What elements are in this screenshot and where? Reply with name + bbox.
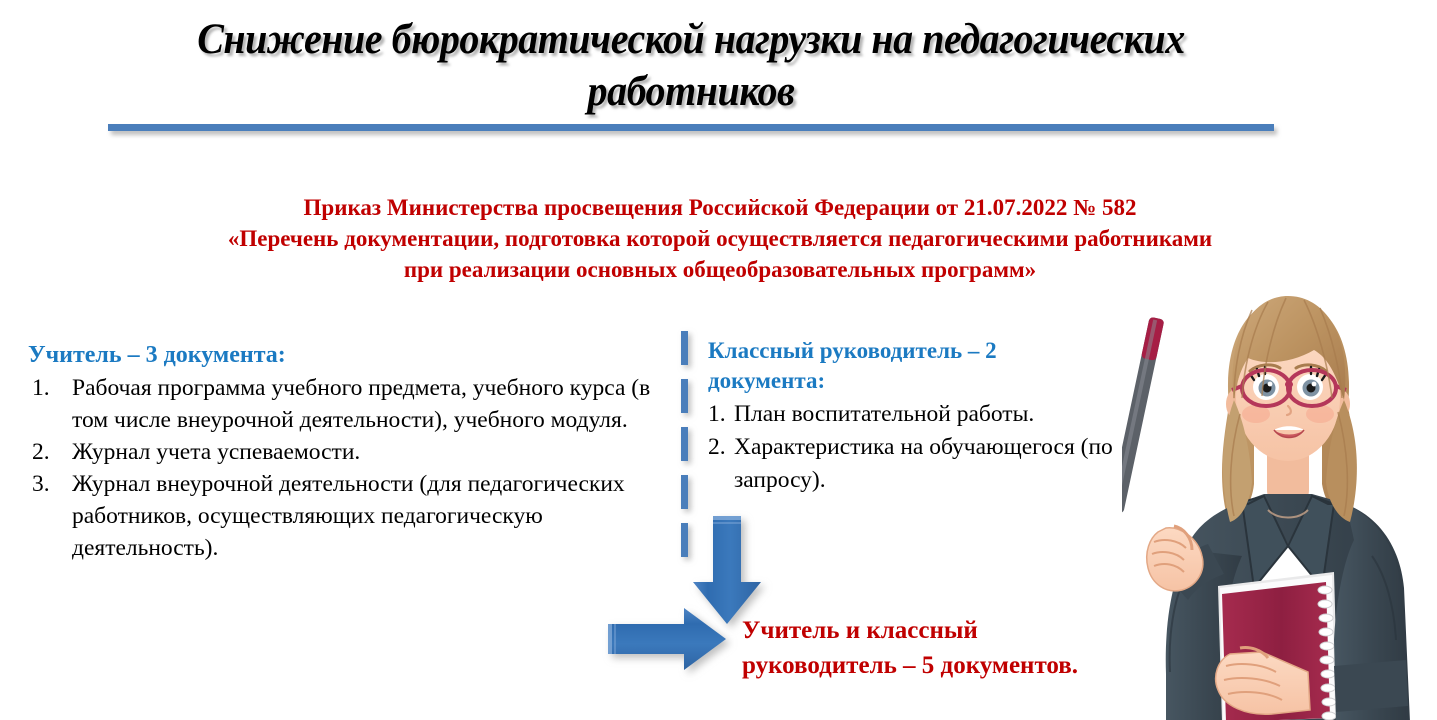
slide-canvas: Снижение бюрократической нагрузки на пед…	[0, 0, 1437, 720]
page-title: Снижение бюрократической нагрузки на пед…	[149, 14, 1233, 118]
list-item-text: План воспитательной работы.	[734, 401, 1034, 427]
list-item: 1. План воспитательной работы.	[708, 398, 1116, 431]
teacher-documents-column: Учитель – 3 документа: 1. Рабочая програ…	[28, 340, 656, 564]
arrow-right-icon	[606, 606, 728, 672]
list-item-text: Журнал учета успеваемости.	[72, 439, 360, 465]
list-item: 1. Рабочая программа учебного предмета, …	[28, 372, 656, 436]
list-item-text: Журнал внеурочной деятельности (для педа…	[72, 471, 625, 561]
teacher-documents-heading: Учитель – 3 документа:	[28, 340, 656, 370]
pointer-stick	[1122, 317, 1164, 514]
teacher-illustration	[1122, 288, 1437, 720]
list-item: 2. Характеристика на обучающегося (по за…	[708, 431, 1116, 497]
title-underline-rule	[108, 124, 1274, 131]
subtitle-line-3: при реализации основных общеобразователь…	[70, 254, 1370, 285]
list-item-number: 1.	[32, 372, 62, 404]
list-item-number: 3.	[32, 468, 62, 500]
conclusion-callout: Учитель и классный руководитель – 5 доку…	[742, 613, 1172, 683]
list-item-text: Рабочая программа учебного предмета, уче…	[72, 375, 650, 433]
order-reference-subtitle: Приказ Министерства просвещения Российск…	[70, 192, 1370, 285]
subtitle-line-2: «Перечень документации, подготовка котор…	[70, 223, 1370, 254]
dashed-vertical-connector	[681, 331, 688, 559]
list-item-number: 2.	[32, 436, 62, 468]
class-teacher-documents-list: 1. План воспитательной работы. 2. Характ…	[708, 398, 1116, 497]
list-item-number: 1.	[708, 398, 726, 431]
conclusion-line-2: руководитель – 5 документов.	[742, 648, 1172, 683]
list-item: 2. Журнал учета успеваемости.	[28, 436, 656, 468]
conclusion-line-1: Учитель и классный	[742, 613, 1172, 648]
class-teacher-documents-column: Классный руководитель – 2 документа: 1. …	[708, 336, 1116, 497]
subtitle-line-1: Приказ Министерства просвещения Российск…	[70, 192, 1370, 223]
list-item-number: 2.	[708, 431, 726, 464]
class-teacher-documents-heading: Классный руководитель – 2 документа:	[708, 336, 1116, 396]
list-item-text: Характеристика на обучающегося (по запро…	[734, 434, 1113, 493]
list-item: 3. Журнал внеурочной деятельности (для п…	[28, 468, 656, 564]
teacher-documents-list: 1. Рабочая программа учебного предмета, …	[28, 372, 656, 564]
